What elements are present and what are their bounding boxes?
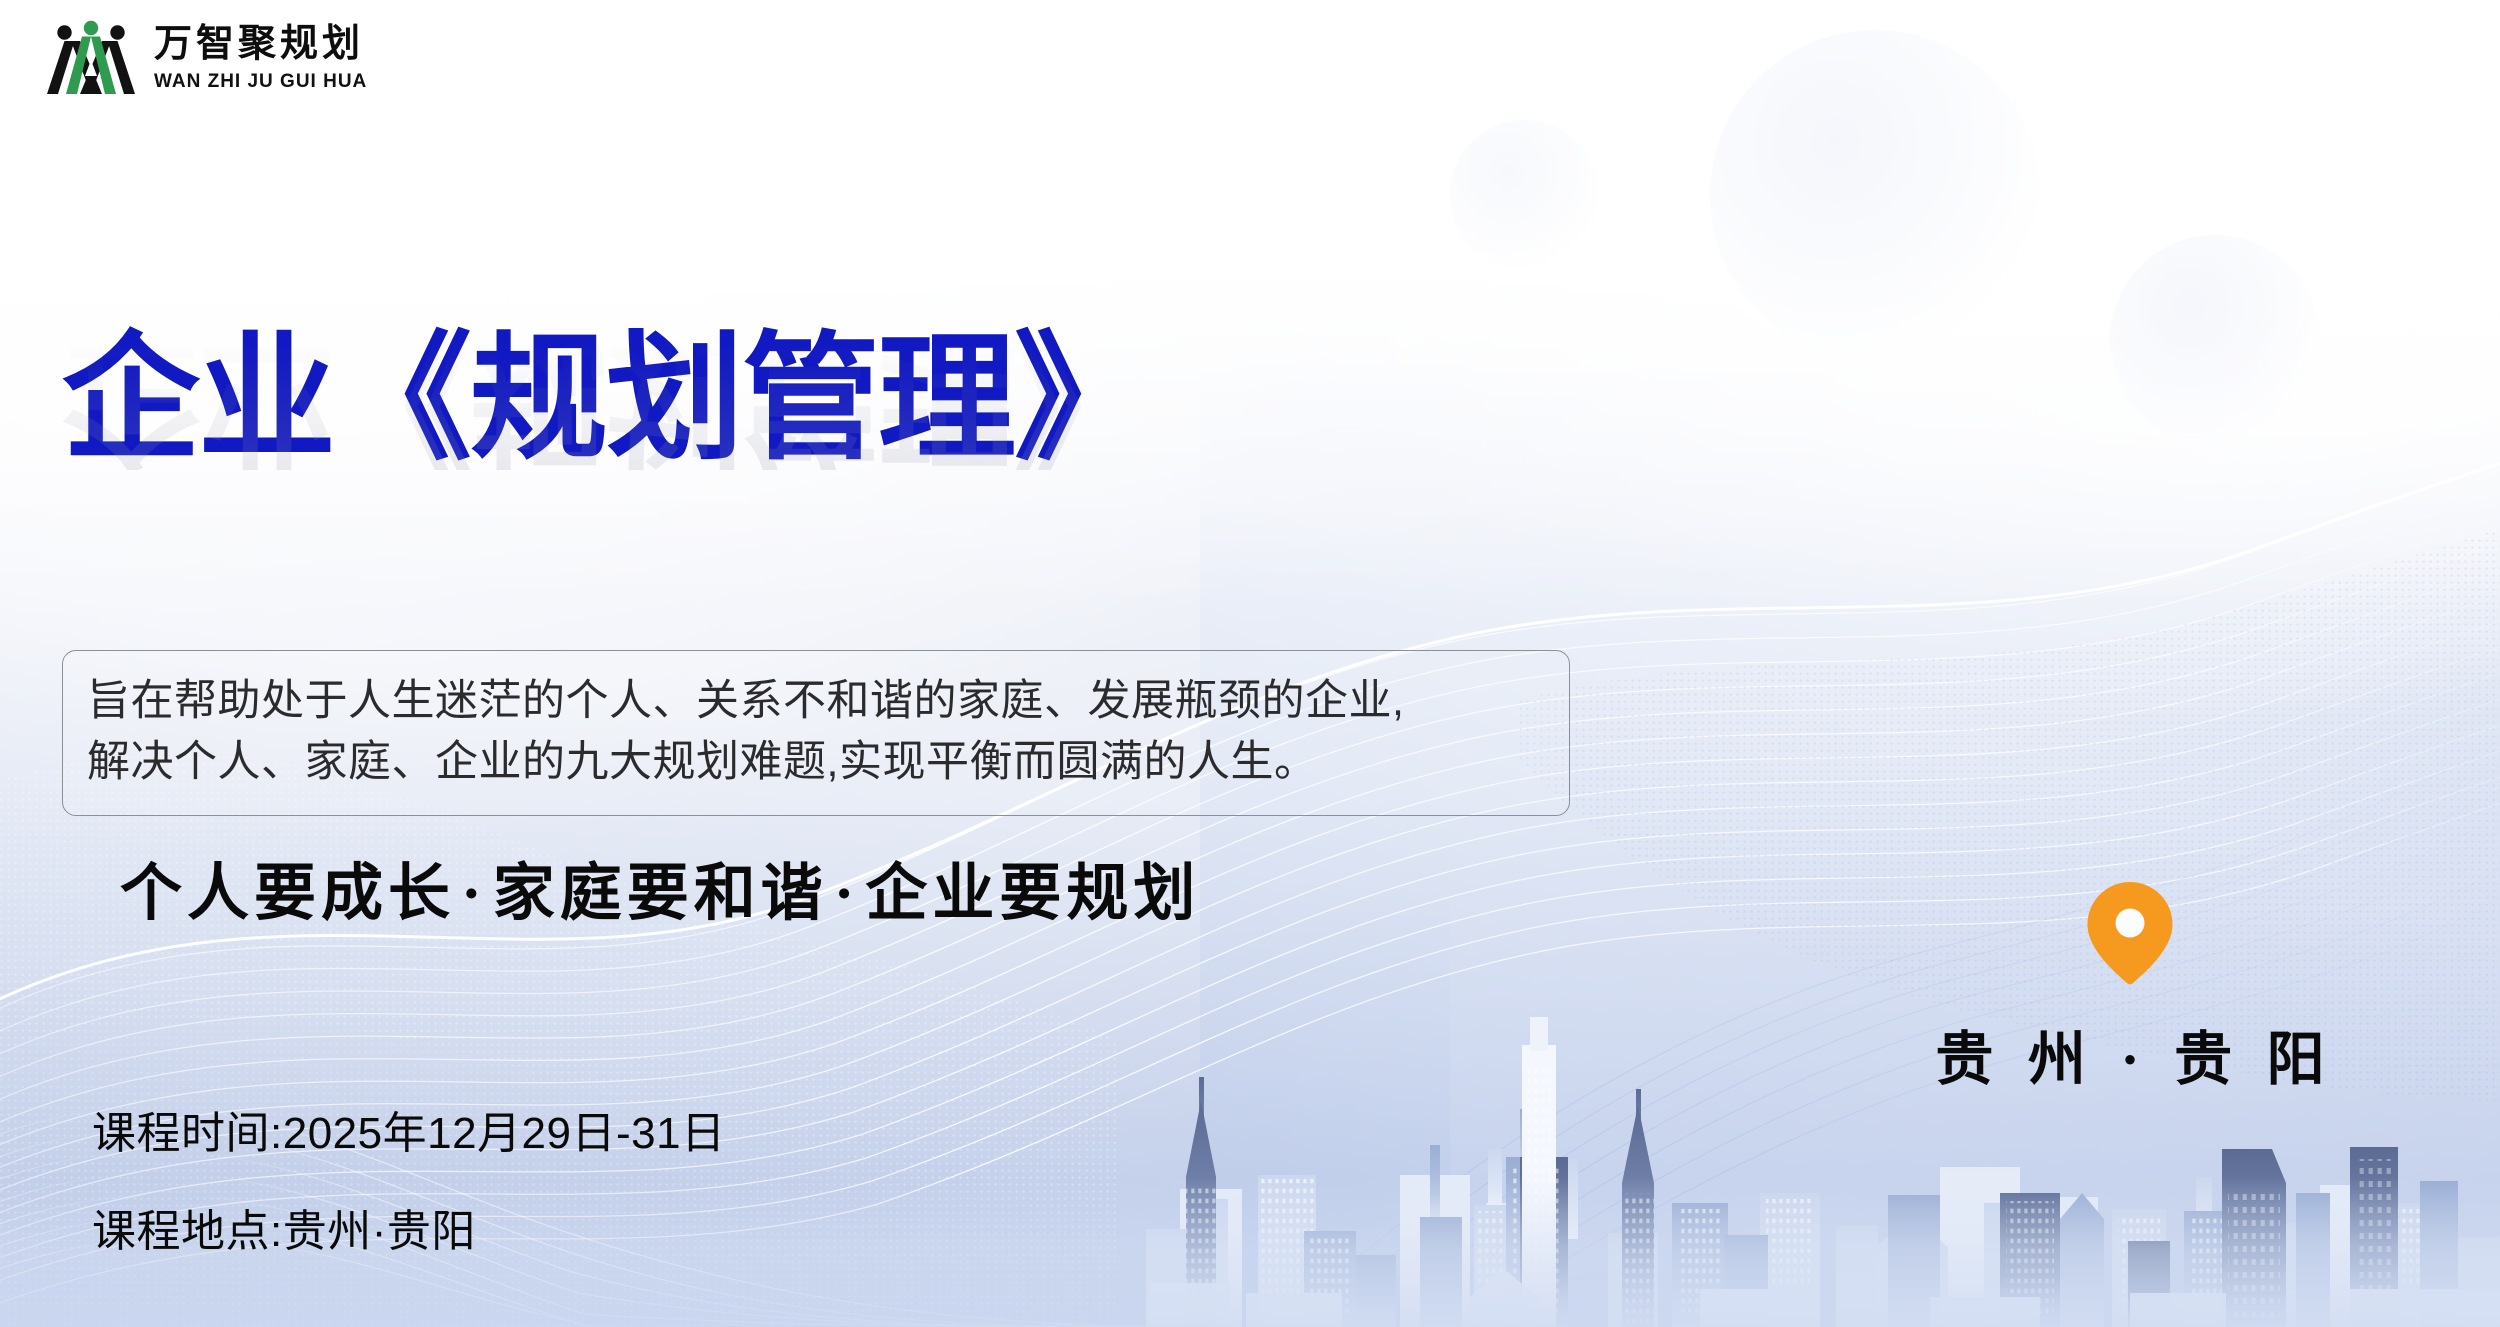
- three-people-mark-icon: [44, 16, 138, 96]
- slogan-separator-1: ·: [455, 860, 493, 928]
- slogan-part-2: 家庭要和谐: [493, 860, 828, 928]
- slogan: 个人要成长·家庭要和谐·企业要规划: [120, 842, 1200, 932]
- location-block: 贵 州 · 贵 阳: [1960, 880, 2300, 1096]
- course-time-value: 2025年12月29日-31日: [283, 1109, 726, 1158]
- course-place-row: 课程地点:贵州·贵阳: [92, 1195, 726, 1259]
- location-city-label: 贵 州 · 贵 阳: [1925, 1012, 2334, 1096]
- brand-logo[interactable]: 万智聚规划 WAN ZHI JU GUI HUA: [44, 16, 367, 96]
- poster-content: 万智聚规划 WAN ZHI JU GUI HUA 企业《规划管理》 企业《规划管…: [0, 0, 2500, 1327]
- description-box: 旨在帮助处于人生迷茫的个人、关系不和谐的家庭、发展瓶颈的企业, 解决个人、家庭、…: [62, 650, 1570, 816]
- page-title-reflection: 企业《规划管理》: [62, 332, 1562, 470]
- course-place-value: 贵州·贵阳: [283, 1207, 476, 1256]
- course-time-row: 课程时间:2025年12月29日-31日: [92, 1097, 726, 1161]
- poster-canvas: 万智聚规划 WAN ZHI JU GUI HUA 企业《规划管理》 企业《规划管…: [0, 0, 2500, 1327]
- slogan-part-1: 个人要成长: [120, 860, 455, 928]
- slogan-separator-2: ·: [828, 860, 866, 928]
- brand-name-cn: 万智聚规划: [154, 25, 367, 63]
- course-place-label: 课程地点:: [92, 1207, 283, 1256]
- description-line-1: 旨在帮助处于人生迷茫的个人、关系不和谐的家庭、发展瓶颈的企业,: [87, 671, 1543, 732]
- course-info: 课程时间:2025年12月29日-31日 课程地点:贵州·贵阳: [92, 1097, 726, 1259]
- brand-name-en: WAN ZHI JU GUI HUA: [154, 72, 367, 91]
- description-line-2: 解决个人、家庭、企业的九大规划难题,实现平衡而圆满的人生。: [87, 732, 1543, 793]
- map-pin-icon: [2083, 880, 2177, 986]
- slogan-part-3: 企业要规划: [865, 860, 1200, 928]
- course-time-label: 课程时间:: [92, 1109, 283, 1158]
- headline-block: 企业《规划管理》 企业《规划管理》: [62, 330, 1562, 608]
- brand-wordmark: 万智聚规划 WAN ZHI JU GUI HUA: [154, 21, 367, 91]
